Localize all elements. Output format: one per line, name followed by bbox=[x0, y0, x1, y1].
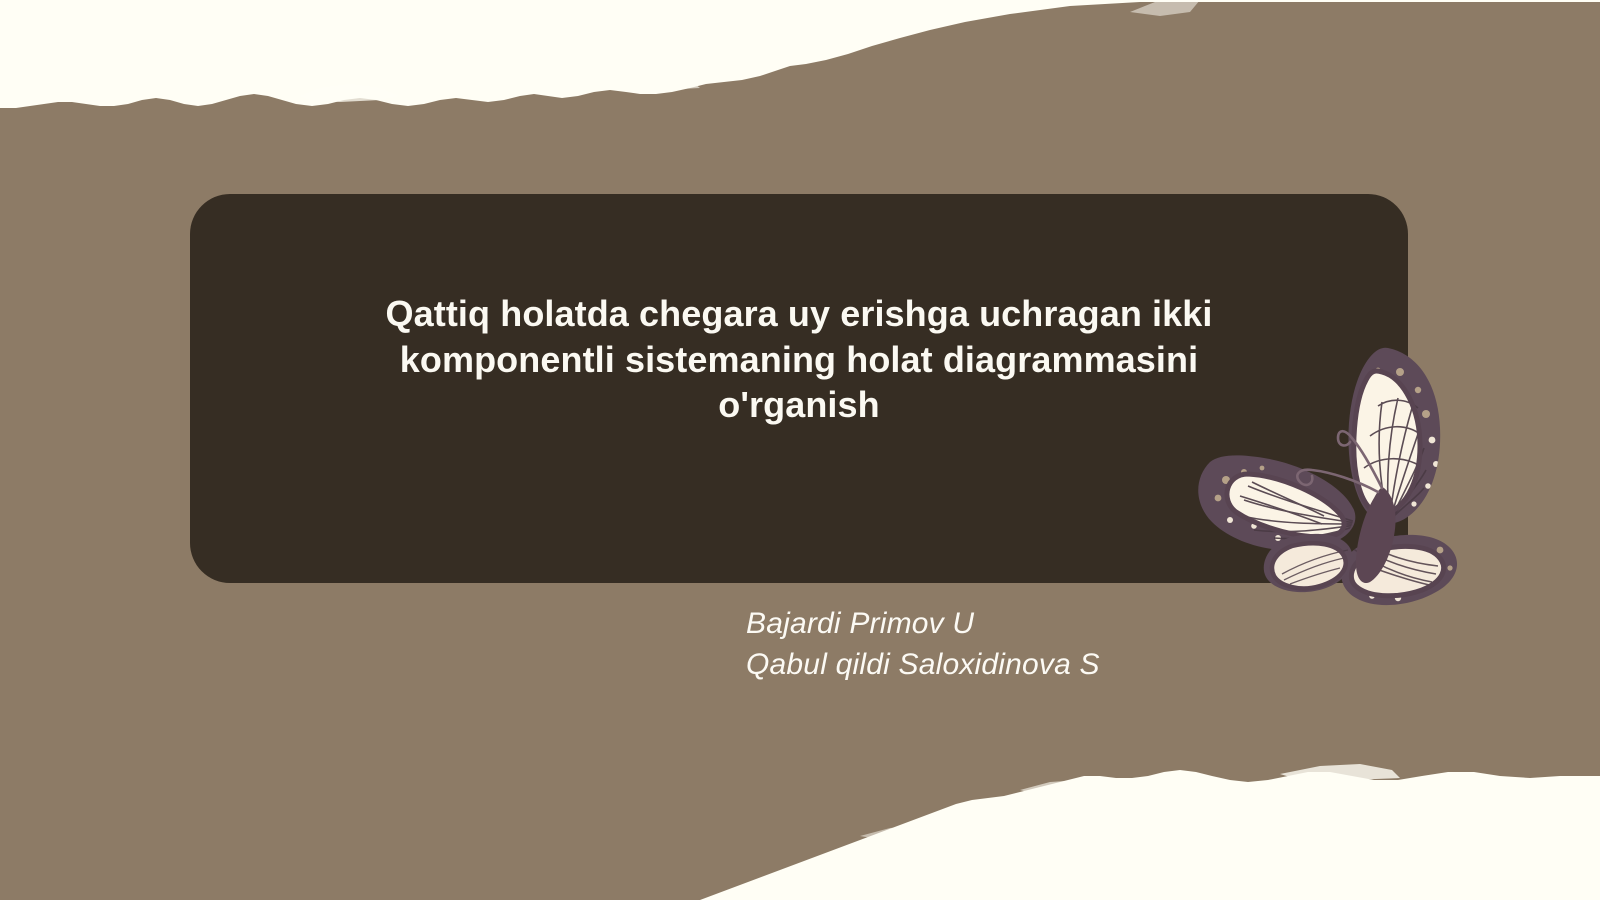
title-card: Qattiq holatda chegara uy erishga uchrag… bbox=[190, 194, 1408, 583]
torn-paper-top-edge bbox=[0, 0, 1600, 130]
credits-block: Bajardi Primov U Qabul qildi Saloxidinov… bbox=[746, 604, 1100, 685]
torn-paper-bottom-edge bbox=[0, 750, 1600, 900]
credit-line-supervisor: Qabul qildi Saloxidinova S bbox=[746, 645, 1100, 686]
title-slide: Qattiq holatda chegara uy erishga uchrag… bbox=[0, 0, 1600, 900]
credit-line-author: Bajardi Primov U bbox=[746, 604, 1100, 645]
page-title: Qattiq holatda chegara uy erishga uchrag… bbox=[319, 291, 1279, 486]
